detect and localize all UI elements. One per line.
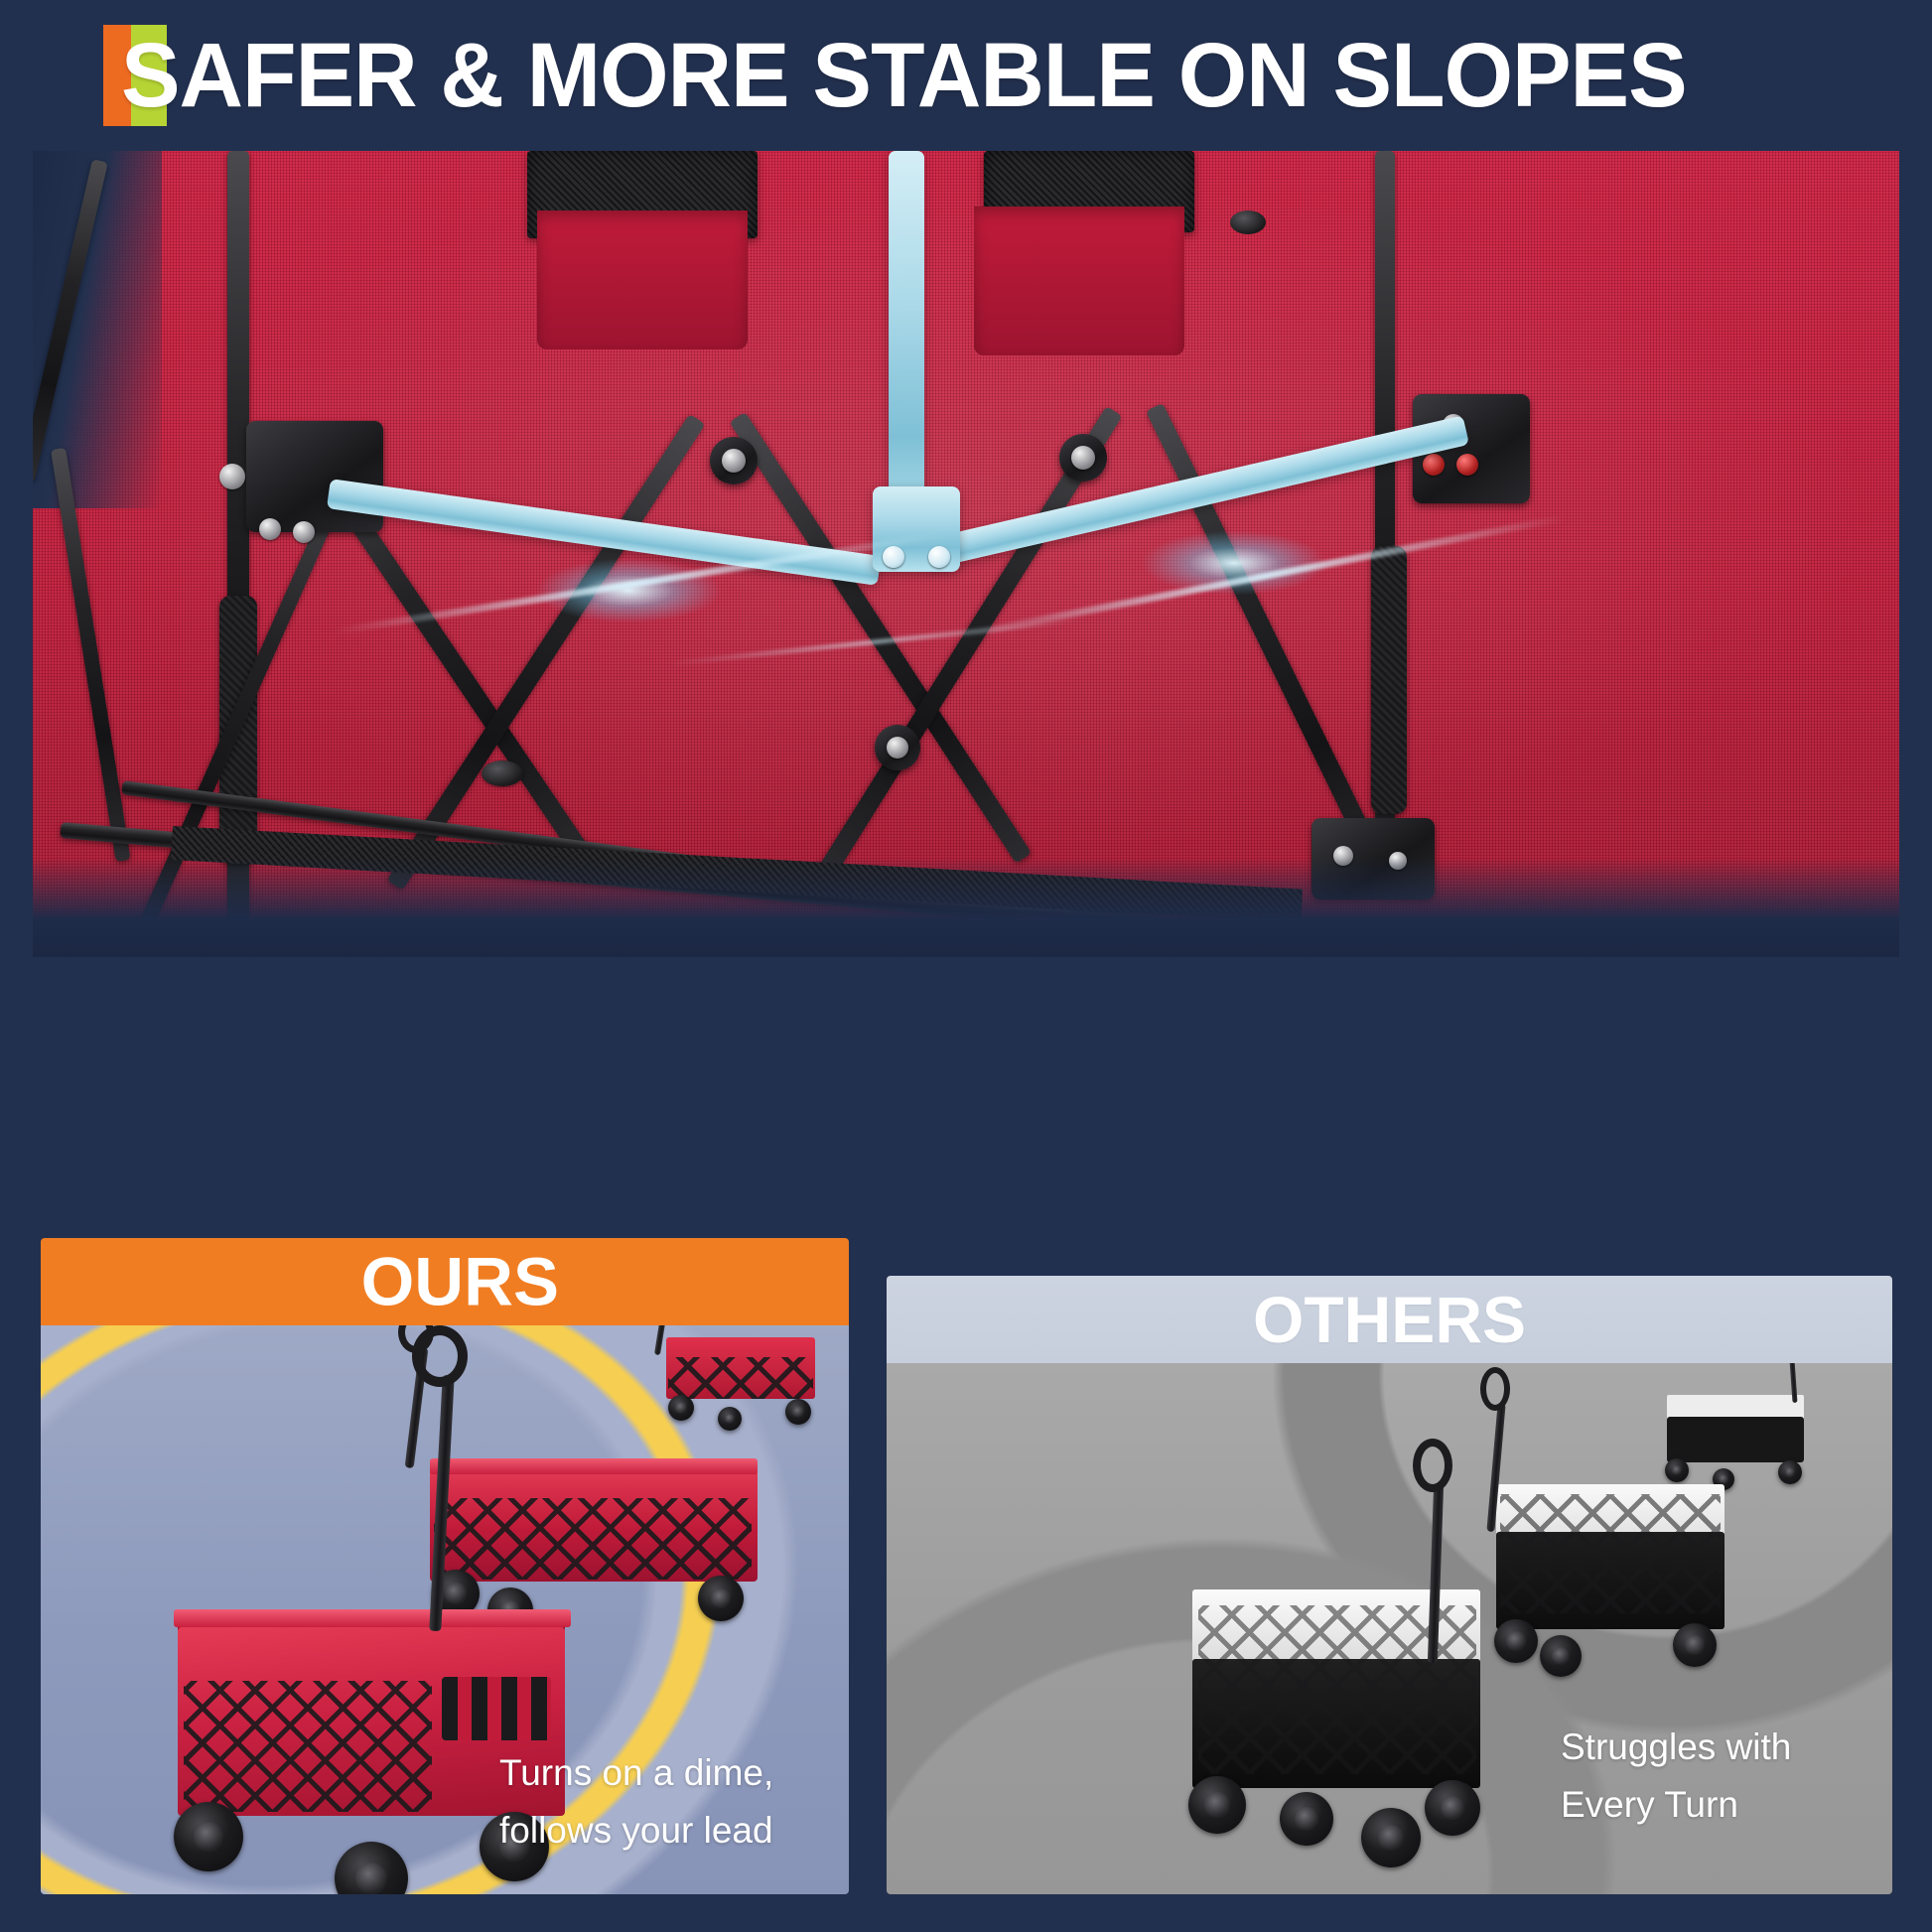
highlight-brace-rivet-b	[928, 546, 950, 568]
comparison-panel-ours: OURS	[41, 1238, 849, 1894]
hero-bottom-shadow	[33, 858, 1899, 957]
grommet-lower-left	[482, 760, 523, 786]
ours-wagon-mid-wheel-3	[698, 1576, 744, 1621]
ours-wagon-near-rim	[174, 1609, 571, 1627]
comparison-panel-others: OTHERS	[887, 1276, 1892, 1894]
others-scene: Struggles with Every Turn	[887, 1363, 1892, 1894]
ours-label: OURS	[361, 1243, 559, 1321]
others-wagon-mid-wheel-3	[1673, 1623, 1717, 1667]
ours-wagon-mid-rim	[430, 1458, 758, 1474]
ours-wagon-near-xbrace	[184, 1681, 432, 1812]
others-caption-line2: Every Turn	[1561, 1776, 1859, 1833]
others-caption-line1: Struggles with	[1561, 1719, 1859, 1775]
ours-wagon-near-handle-loop	[412, 1325, 468, 1387]
others-caption: Struggles with Every Turn	[1561, 1719, 1859, 1833]
others-header-band: OTHERS	[887, 1276, 1892, 1363]
ours-wagon-far-xbrace	[668, 1357, 813, 1399]
hinge-rivet-right-c	[1456, 454, 1478, 476]
others-wagon-near-wheel-2	[1280, 1792, 1333, 1846]
others-wagon-mid-handle-loop	[1480, 1367, 1510, 1411]
page-title: SAFER & MORE STABLE ON SLOPES	[121, 30, 1687, 121]
ours-scene: Turns on a dime, follows your lead	[41, 1325, 849, 1894]
hinge-pivot-rivet-center-left	[722, 449, 746, 473]
fabric-pocket-right	[974, 207, 1184, 355]
hinge-rivet-left-b	[259, 518, 281, 540]
grommet-upper-right	[1230, 210, 1266, 234]
others-wagon-near-wheel-4	[1425, 1780, 1480, 1836]
highlight-brace-rivet-a	[883, 546, 904, 568]
hinge-pivot-rivet-center-right	[1071, 446, 1095, 470]
ours-wagon-near-wheel-1	[174, 1802, 243, 1871]
frame-grip-right	[1371, 546, 1407, 814]
others-wagon-near-wheel-1	[1188, 1776, 1246, 1834]
others-wagon-far-body	[1667, 1417, 1804, 1462]
others-wagon-near-wheel-3	[1361, 1808, 1421, 1867]
hinge-pivot-rivet-lower	[887, 737, 908, 759]
ours-caption: Turns on a dime, follows your lead	[499, 1744, 827, 1859]
others-wagon-near-handle-loop	[1413, 1439, 1452, 1492]
ours-wagon-near-cup-holders	[442, 1677, 551, 1740]
hinge-rivet-right-b	[1423, 454, 1445, 476]
ours-caption-line1: Turns on a dime,	[499, 1744, 827, 1801]
ours-caption-line2: follows your lead	[499, 1802, 827, 1859]
hinge-block-left	[246, 421, 383, 532]
ours-header-band: OURS	[41, 1238, 849, 1325]
hinge-rivet-left-a	[219, 464, 245, 489]
hinge-rivet-left-c	[293, 521, 315, 543]
others-wagon-near	[1174, 1572, 1591, 1889]
fabric-pocket-left	[537, 210, 748, 349]
ours-wagon-near-wheel-2	[335, 1842, 408, 1894]
page-header: SAFER & MORE STABLE ON SLOPES	[0, 0, 1932, 151]
others-label: OTHERS	[1253, 1282, 1526, 1357]
hero-product-photo	[33, 151, 1899, 957]
